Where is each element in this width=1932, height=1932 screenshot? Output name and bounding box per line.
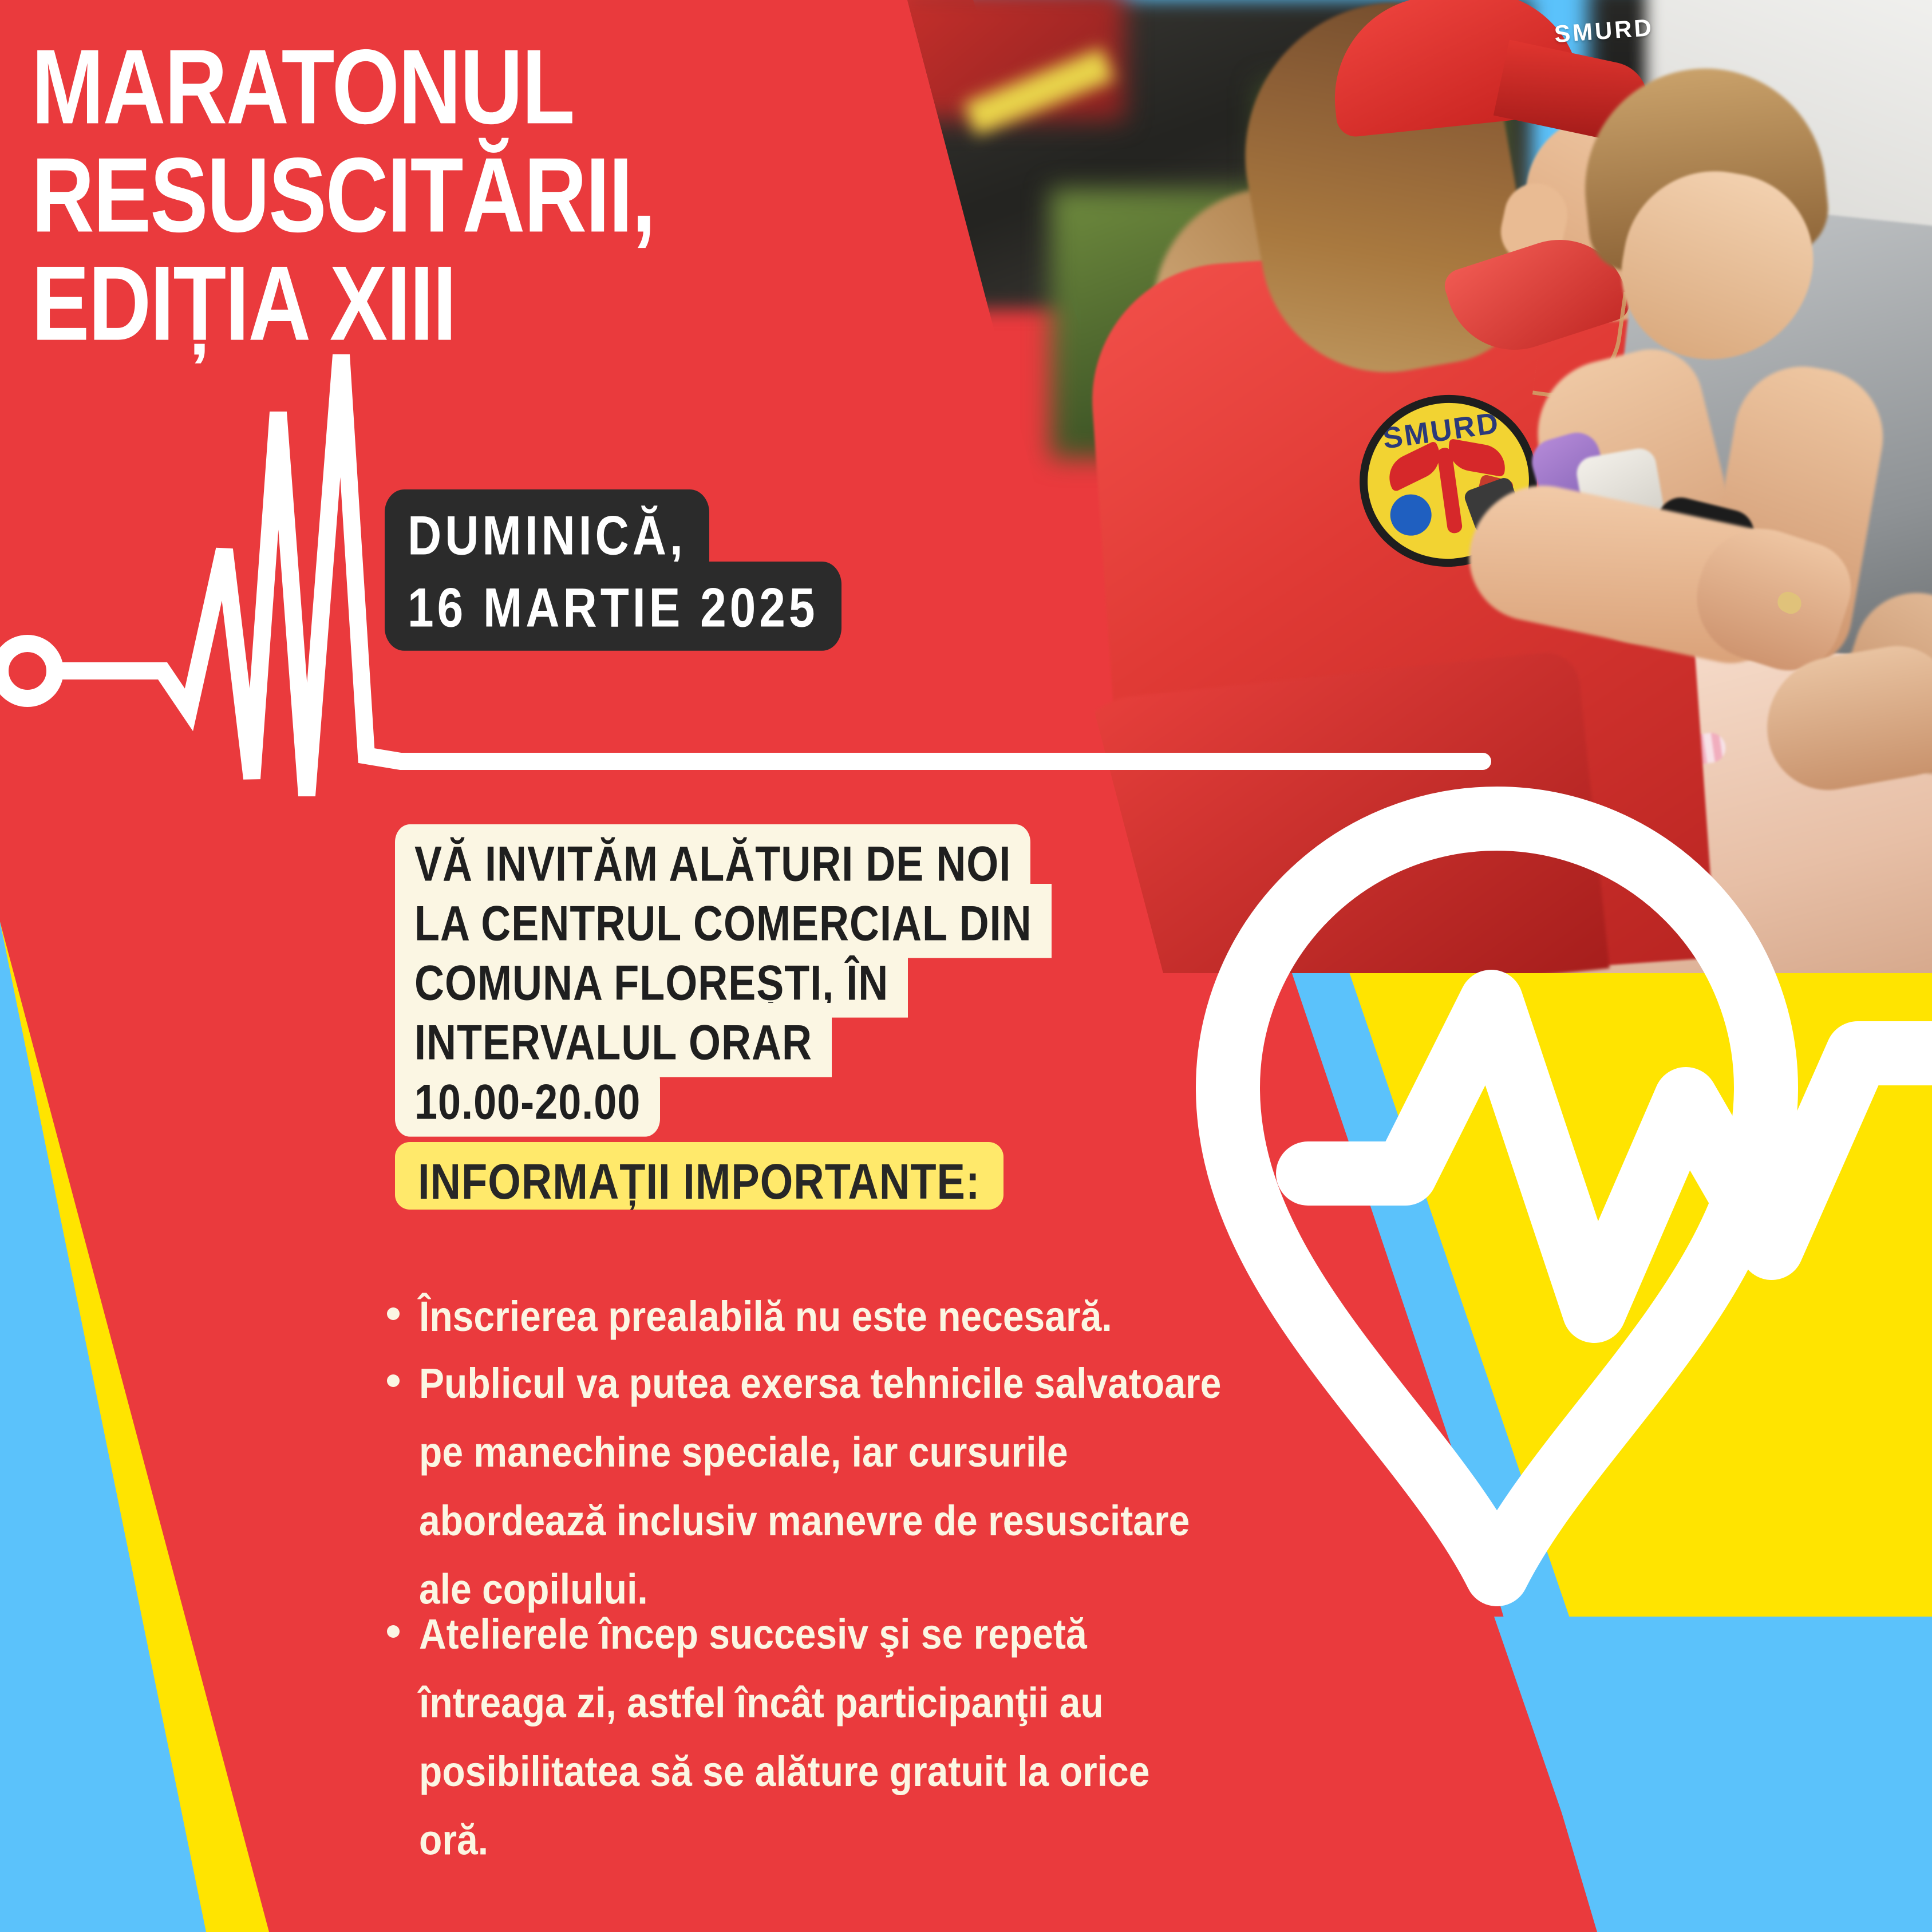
poster-canvas: SMURD SMURD [0, 0, 1932, 1932]
list-item: Atelierele încep succesiv şi se repetă î… [378, 1600, 1225, 1845]
heart-pin-pulse-logo-icon [1136, 733, 1932, 1626]
important-info-label: INFORMAȚII IMPORTANTE: [418, 1157, 981, 1207]
title-line-1: MARATONUL [31, 33, 924, 141]
bullet-text-2: Publicul va putea exersa tehnicile salva… [419, 1349, 1225, 1623]
title-line-3: EDIȚIA XIII [31, 250, 924, 358]
event-date-badge: DUMINICĂ, 16 MARTIE 2025 [385, 489, 841, 637]
bullet-text-3: Atelierele încep succesiv şi se repetă î… [419, 1600, 1225, 1874]
invitation-block: VĂ INVITĂM ALĂTURI DE NOI LA CENTRUL COM… [395, 824, 1052, 1122]
list-item: Publicul va putea exersa tehnicile salva… [378, 1349, 1225, 1594]
important-info-banner: INFORMAȚII IMPORTANTE: [395, 1142, 1003, 1210]
title-line-2: RESUSCITĂRII, [31, 141, 924, 250]
date-line-date: 16 MARTIE 2025 [385, 562, 841, 651]
bullet-text-1: Înscrierea prealabilă nu este necesară. [419, 1282, 1225, 1351]
page-title: MARATONUL RESUSCITĂRII, EDIȚIA XIII [31, 33, 924, 358]
list-item: Înscrierea prealabilă nu este necesară. [378, 1282, 1225, 1344]
info-bullet-list: Înscrierea prealabilă nu este necesară. … [378, 1282, 1225, 1850]
invite-line-5: 10.00-20.00 [395, 1062, 660, 1137]
